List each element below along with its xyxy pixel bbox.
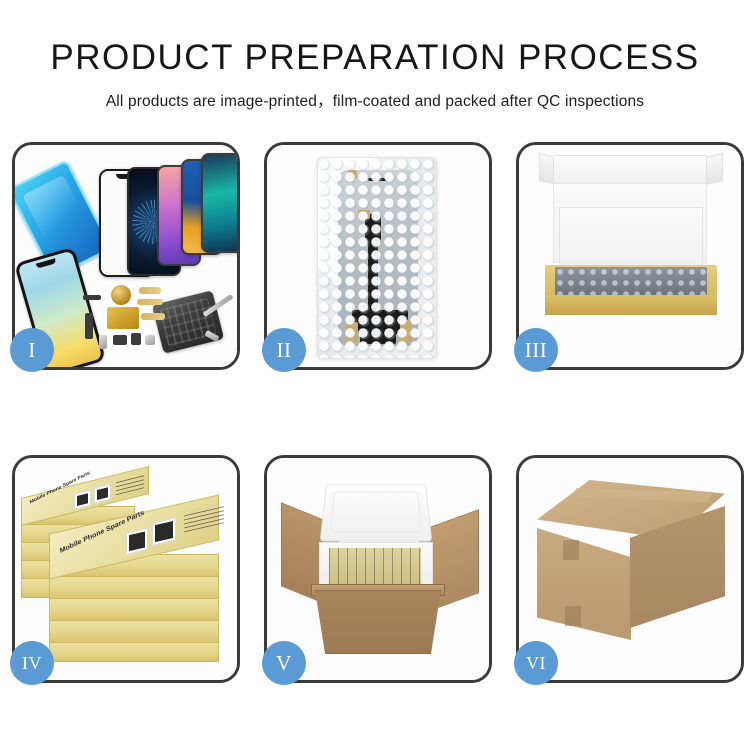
- part-gold-grid-ic: [107, 307, 139, 329]
- box-screen-thumb-back-1: [74, 490, 91, 510]
- step-badge-6: VI: [514, 641, 558, 685]
- part-ribbon-strip: [85, 313, 93, 339]
- stacked-box-front-4: [49, 620, 219, 644]
- step-badge-3: III: [514, 328, 558, 372]
- part-vibrator: [131, 333, 141, 345]
- step-6-image: [519, 458, 741, 680]
- screen-bottom-flex: [360, 330, 396, 344]
- box-spec-lines-back: [116, 474, 144, 495]
- step-badge-1: I: [10, 328, 54, 372]
- page-title: PRODUCT PREPARATION PROCESS: [0, 0, 750, 77]
- part-battery-small: [99, 335, 107, 349]
- header: PRODUCT PREPARATION PROCESS All products…: [0, 0, 750, 130]
- process-step-panel-1: I: [12, 142, 240, 370]
- step-badge-4: IV: [10, 641, 54, 685]
- wrapped-screen-assembly: [338, 170, 418, 346]
- process-step-panel-6: VI: [516, 455, 744, 683]
- carton-tape-tab-lower: [565, 606, 581, 626]
- process-step-panel-5: V: [264, 455, 492, 683]
- carton-front-wall: [315, 590, 441, 654]
- page-subtitle: All products are image-printed，film-coat…: [0, 77, 750, 111]
- step-3-image: [519, 145, 741, 367]
- foam-sheet: [559, 207, 703, 271]
- stacked-box-front-2: [49, 576, 219, 600]
- step-badge-5: V: [262, 641, 306, 685]
- step-5-image: [267, 458, 489, 680]
- styrofoam-lid: [320, 484, 433, 542]
- tape-right: [400, 320, 412, 342]
- process-step-panel-2: II: [264, 142, 492, 370]
- box-front-flap: [545, 295, 717, 315]
- part-speaker-round: [111, 285, 131, 305]
- tape-top: [348, 170, 357, 179]
- phone-parts-scene: [15, 145, 237, 367]
- stacked-box-front-3: [49, 598, 219, 622]
- screen-flex-ribbon: [368, 242, 378, 316]
- process-step-grid: I II: [12, 142, 738, 686]
- box-screen-thumb-front-2: [152, 517, 176, 546]
- step-1-image: [15, 145, 237, 367]
- step-2-image: [267, 145, 489, 367]
- tape-left: [346, 322, 358, 342]
- box-spec-lines-front: [184, 503, 224, 532]
- box-lid-tab-right: [705, 153, 723, 185]
- process-step-panel-4: Mobile Phone Spare Parts Mobile Phone Sp…: [12, 455, 240, 683]
- bubble-wrapped-contents: [555, 267, 707, 295]
- box-screen-thumb-back-2: [94, 484, 111, 504]
- part-camera-module: [113, 335, 127, 345]
- bubble-wrap-bag: [317, 157, 437, 359]
- box-screen-thumb-front-1: [126, 528, 148, 555]
- step-badge-2: II: [262, 328, 306, 372]
- part-flex-cable-b: [137, 299, 163, 305]
- part-screw-plate: [145, 335, 155, 345]
- part-flex-cable-c: [141, 313, 165, 320]
- screen-top-edge: [368, 178, 390, 181]
- phone-display-teal: [201, 153, 237, 253]
- tape-middle: [358, 210, 370, 219]
- part-connector-bar: [83, 295, 101, 300]
- yellow-boxes-inside: [329, 548, 421, 586]
- process-step-panel-3: III: [516, 142, 744, 370]
- stacked-box-front-5: [49, 642, 219, 662]
- carton-left-face: [537, 528, 631, 640]
- carton-tape-tab-upper: [563, 540, 579, 560]
- part-flex-cable-a: [139, 287, 161, 294]
- step-4-image: Mobile Phone Spare Parts Mobile Phone Sp…: [15, 458, 237, 680]
